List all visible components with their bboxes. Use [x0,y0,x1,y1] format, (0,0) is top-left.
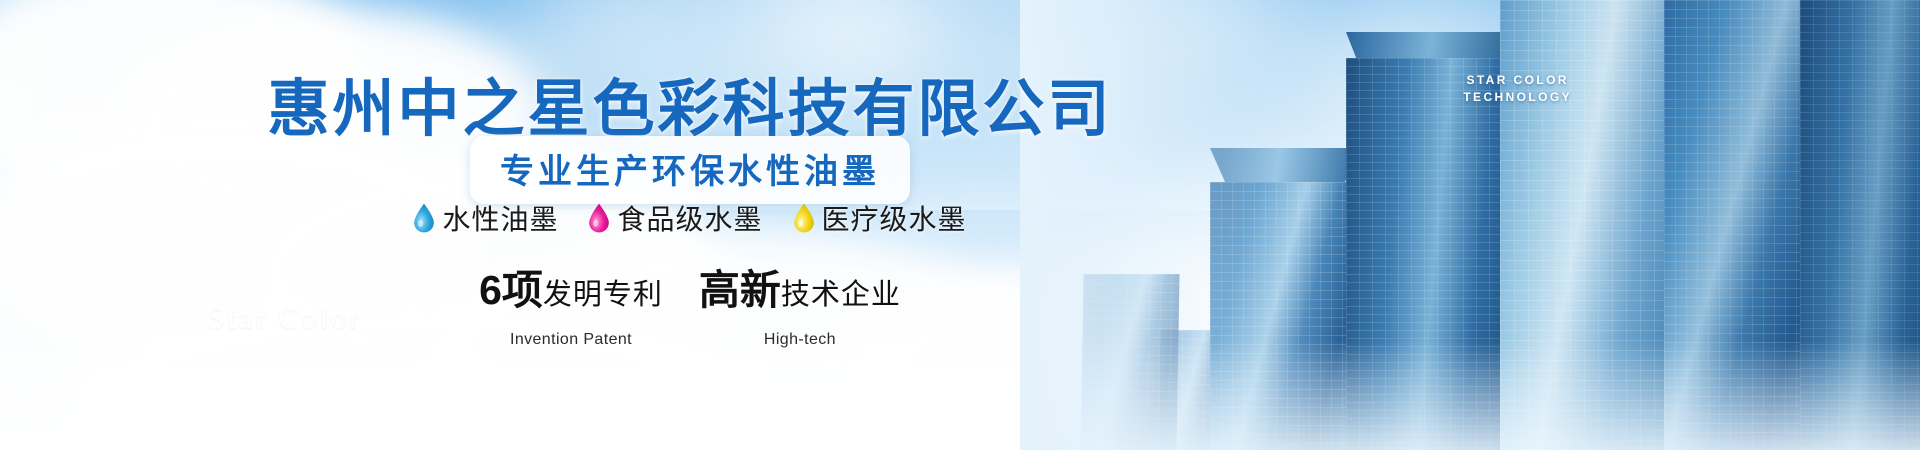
credential-rest: 发明专利 [543,279,663,311]
list-item: 医疗级水墨 [793,198,967,238]
credentials-list: 6项发明专利 Invention Patent 高新技术企业 High-tech [0,268,1380,349]
credential-english: Invention Patent [479,331,663,349]
list-item-label: 食品级水墨 [617,198,762,238]
credential-emphasis: 6项 [479,267,543,313]
water-drop-icon [413,203,435,233]
credential-rest: 技术企业 [781,279,901,311]
credential-item: 高新技术企业 High-tech [699,268,901,349]
ink-type-list: 水性油墨 [0,198,1380,238]
list-item-label: 医疗级水墨 [822,198,967,238]
credential-english: High-tech [699,331,901,349]
credential-item: 6项发明专利 Invention Patent [479,268,663,349]
credential-emphasis: 高新 [699,267,781,313]
page-title: 惠州中之星色彩科技有限公司 [0,58,1380,148]
list-item: 食品级水墨 [588,198,762,238]
banner-content: 惠州中之星色彩科技有限公司 专业生产环保水性油墨 [0,0,1920,450]
tagline-badge: 专业生产环保水性油墨 [470,136,910,204]
tagline-badge-wrap: 专业生产环保水性油墨 [0,136,1380,204]
water-drop-icon [588,203,610,233]
water-drop-icon [793,203,815,233]
list-item: 水性油墨 [413,198,558,238]
list-item-label: 水性油墨 [442,198,558,238]
hero-banner: Star Color STAR COLOR TECHNOLOGY 惠州中之星色彩… [0,0,1920,450]
